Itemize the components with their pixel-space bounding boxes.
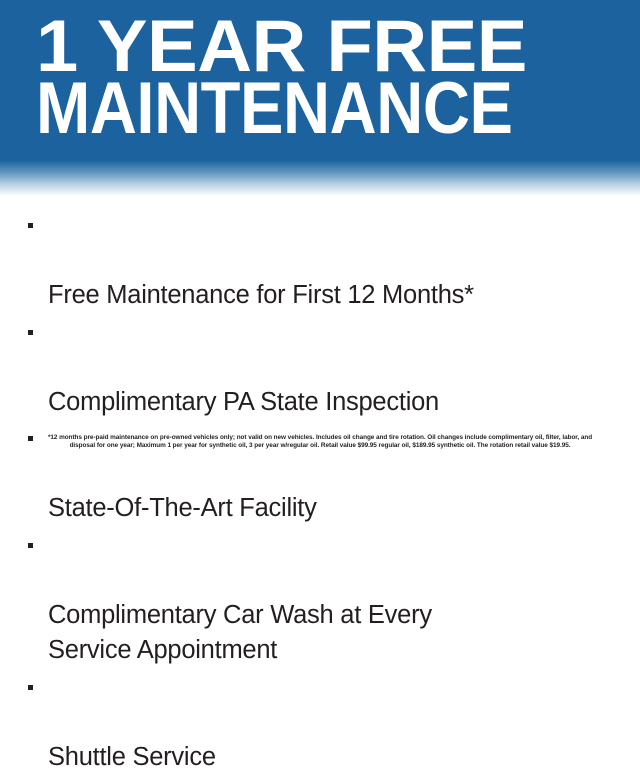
- disclaimer-text: *12 months pre-paid maintenance on pre-o…: [40, 434, 600, 450]
- list-item-label: Complimentary Car Wash at Every Service …: [48, 601, 432, 665]
- square-bullet-icon: [28, 436, 33, 441]
- square-bullet-icon: [28, 330, 33, 335]
- square-bullet-icon: [28, 543, 33, 548]
- list-item: Shuttle Service: [24, 669, 624, 775]
- list-item: Complimentary PA State Inspection: [24, 314, 624, 421]
- offer-list: Free Maintenance for First 12 Months* Co…: [24, 207, 624, 775]
- list-item-label: Complimentary PA State Inspection: [48, 388, 439, 416]
- banner-header: 1 YEAR FREE MAINTENANCE: [0, 0, 640, 197]
- list-item: Complimentary Car Wash at Every Service …: [24, 527, 624, 669]
- list-item-label: Shuttle Service: [48, 743, 216, 771]
- square-bullet-icon: [28, 223, 33, 228]
- list-item: Free Maintenance for First 12 Months*: [24, 207, 624, 314]
- list-item-label: Free Maintenance for First 12 Months*: [48, 281, 474, 309]
- square-bullet-icon: [28, 685, 33, 690]
- headline-line-2: MAINTENANCE: [36, 75, 561, 143]
- list-item-label: State-Of-The-Art Facility: [48, 494, 317, 522]
- headline: 1 YEAR FREE MAINTENANCE: [36, 13, 616, 141]
- promotional-ad: 1 YEAR FREE MAINTENANCE Free Maintenance…: [0, 0, 640, 480]
